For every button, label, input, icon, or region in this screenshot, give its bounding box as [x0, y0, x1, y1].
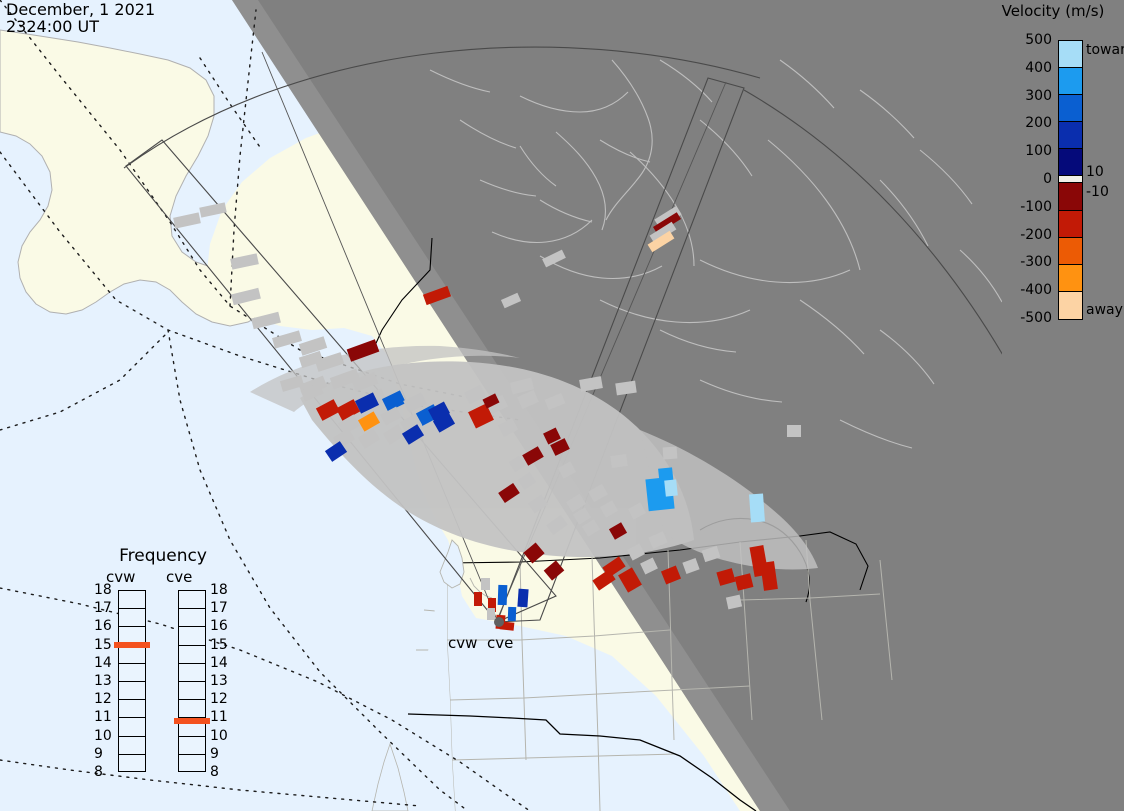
frequency-tick-label-cvw: 11: [94, 709, 112, 725]
frequency-tick-label-cve: 10: [210, 728, 228, 744]
colorbar-label-10: 10: [1086, 164, 1104, 180]
ground-scatter-cell: [787, 425, 801, 437]
ground-scatter-cell: [487, 608, 495, 620]
radar-site-marker[interactable]: [494, 617, 504, 627]
frequency-tick-label-cve: 17: [210, 600, 228, 616]
frequency-tick-label-cvw: 14: [94, 655, 112, 671]
velocity-cell: [517, 589, 528, 608]
frequency-tick-label-cve: 16: [210, 618, 228, 634]
colorbar-tick-label: -200: [1020, 227, 1052, 243]
frequency-tick-label-cvw: 18: [94, 582, 112, 598]
frequency-cell: [179, 591, 205, 609]
frequency-cell: [119, 755, 145, 773]
frequency-marker-cvw: [114, 642, 150, 648]
colorbar-tick-label: 200: [1025, 115, 1052, 131]
colorbar-segment: [1059, 41, 1082, 68]
frequency-cell: [179, 664, 205, 682]
velocity-cell: [664, 479, 678, 496]
frequency-cell: [119, 646, 145, 664]
colorbar-label-away: away: [1086, 302, 1123, 318]
frequency-cell: [179, 682, 205, 700]
frequency-tick-label-cvw: 9: [94, 746, 103, 762]
frequency-tick-label-cve: 11: [210, 709, 228, 725]
frequency-tick-label-cvw: 15: [94, 637, 112, 653]
frequency-cell: [179, 737, 205, 755]
frequency-marker-cve: [174, 718, 210, 724]
frequency-tick-label-cvw: 16: [94, 618, 112, 634]
frequency-tick-label-cvw: 13: [94, 673, 112, 689]
frequency-tick-label-cve: 9: [210, 746, 219, 762]
colorbar-label-toward: toward: [1086, 42, 1124, 58]
frequency-cell: [119, 700, 145, 718]
colorbar-tick-label: 400: [1025, 60, 1052, 76]
colorbar-segment: [1059, 122, 1082, 149]
colorbar-segment: [1059, 68, 1082, 95]
velocity-cell: [508, 607, 516, 621]
frequency-tick-label-cve: 18: [210, 582, 228, 598]
colorbar-tick-label: -400: [1020, 282, 1052, 298]
colorbar-title: Velocity (m/s): [982, 2, 1124, 20]
frequency-tick-label-cvw: 12: [94, 691, 112, 707]
colorbar-segment: [1059, 176, 1082, 183]
colorbar-tick-label: 300: [1025, 88, 1052, 104]
colorbar-segment: [1059, 211, 1082, 238]
colorbar-segment: [1059, 95, 1082, 122]
colorbar-tick-label: 100: [1025, 143, 1052, 159]
frequency-tick-label-cve: 12: [210, 691, 228, 707]
frequency-legend: Frequency cvw cve 18171615141312111098 1…: [88, 546, 238, 786]
frequency-tick-label-cve: 15: [210, 637, 228, 653]
colorbar-segment: [1059, 149, 1082, 176]
colorbar-segment: [1059, 183, 1082, 210]
ground-scatter-cell: [610, 454, 628, 468]
frequency-cell: [179, 627, 205, 645]
colorbar-segment: [1059, 292, 1082, 319]
velocity-cell: [498, 585, 508, 605]
frequency-tick-label-cve: 8: [210, 764, 219, 780]
frequency-tick-label-cve: 14: [210, 655, 228, 671]
frequency-cell: [119, 682, 145, 700]
timestamp: December, 1 20212324:00 UT: [6, 1, 155, 35]
radar-velocity-map: cvw cve December, 1 20212324:00 UT Frequ…: [0, 0, 1124, 811]
colorbar-tick-label: -100: [1020, 199, 1052, 215]
velocity-cell: [749, 494, 765, 523]
frequency-cell: [179, 700, 205, 718]
frequency-tick-label-cve: 13: [210, 673, 228, 689]
frequency-cell: [119, 664, 145, 682]
frequency-cell: [179, 646, 205, 664]
frequency-tick-label-cvw: 10: [94, 728, 112, 744]
colorbar-segment: [1059, 238, 1082, 265]
colorbar-panel: Velocity (m/s) 5004003002001000-100-200-…: [1002, 0, 1124, 811]
site-label-cve: cve: [487, 634, 513, 652]
frequency-cell: [119, 718, 145, 736]
frequency-cell: [119, 591, 145, 609]
frequency-bar-cve[interactable]: [178, 590, 206, 772]
map-canvas[interactable]: cvw cve December, 1 20212324:00 UT Frequ…: [0, 0, 1002, 811]
colorbar-segment: [1059, 265, 1082, 292]
timestamp-time: 2324:00 UT: [6, 17, 99, 36]
frequency-tick-label-cvw: 17: [94, 600, 112, 616]
colorbar-label-neg10: -10: [1086, 184, 1109, 200]
frequency-cell: [119, 609, 145, 627]
colorbar-tick-label: -300: [1020, 254, 1052, 270]
frequency-tick-label-cvw: 8: [94, 764, 103, 780]
frequency-cell: [179, 755, 205, 773]
frequency-cell: [119, 737, 145, 755]
frequency-cell: [179, 609, 205, 627]
colorbar-tick-label: -500: [1020, 310, 1052, 326]
colorbar-tick-label: 0: [1043, 171, 1052, 187]
ground-scatter-cell: [663, 447, 678, 460]
colorbar-tick-label: 500: [1025, 32, 1052, 48]
site-label-cvw: cvw: [448, 634, 477, 652]
frequency-legend-title: Frequency: [88, 546, 238, 566]
frequency-column-header-cve: cve: [166, 568, 192, 586]
ground-scatter-cell: [481, 578, 490, 590]
velocity-cell: [474, 592, 482, 606]
colorbar-gradient: [1058, 40, 1083, 320]
frequency-bar-cvw[interactable]: [118, 590, 146, 772]
